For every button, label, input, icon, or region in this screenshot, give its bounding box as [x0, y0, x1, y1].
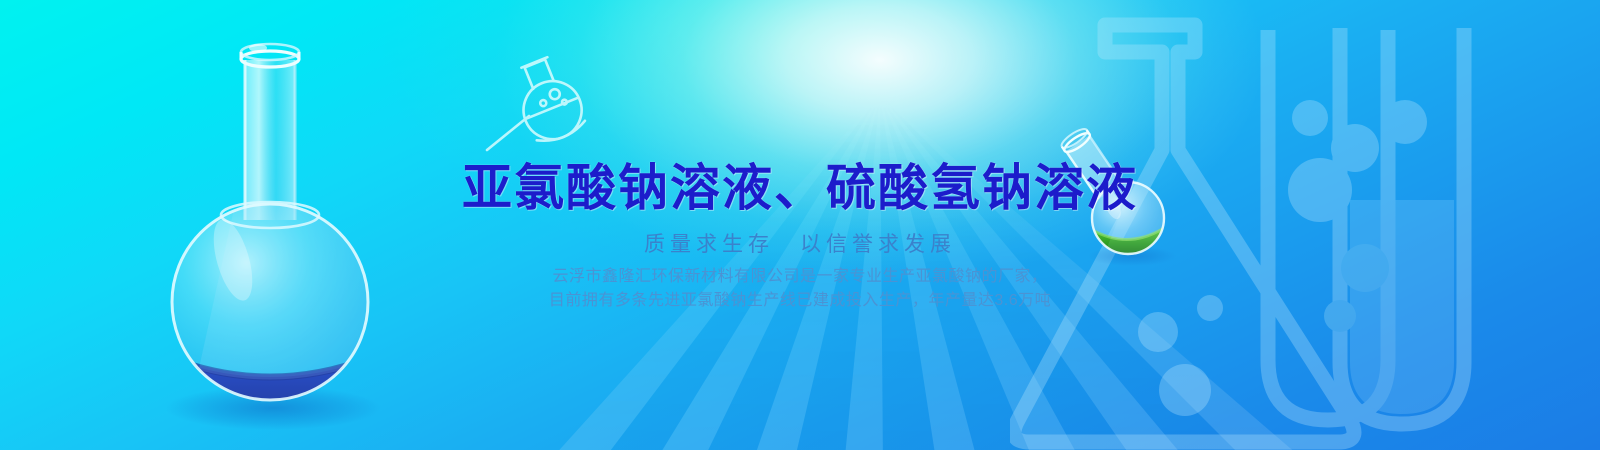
round-bottom-flask-photo: [155, 32, 385, 432]
tilted-flask-green-liquid: [1048, 108, 1183, 268]
hero-banner: 亚氯酸钠溶液、硫酸氢钠溶液 质量求生存 以信誉求发展 云浮市鑫隆汇环保新材料有限…: [0, 0, 1600, 450]
chemistry-watermark-group: [1010, 0, 1600, 450]
test-tube-watermark-right: [1288, 28, 1464, 424]
banner-body-line-1: 云浮市鑫隆汇环保新材料有限公司是一家专业生产亚氯酸钠的厂家，: [0, 262, 1600, 286]
radial-sunburst-rays: [0, 0, 1600, 450]
banner-body-line-2: 目前拥有多条先进亚氯酸钠生产线已建成投入生产，年产量达3.6万吨: [0, 286, 1600, 310]
banner-title: 亚氯酸钠溶液、硫酸氢钠溶液: [0, 148, 1600, 220]
erlenmeyer-flask-watermark: [1014, 25, 1354, 442]
flask-outline-icon: [485, 52, 610, 157]
banner-text-block: 亚氯酸钠溶液、硫酸氢钠溶液 质量求生存 以信誉求发展 云浮市鑫隆汇环保新材料有限…: [0, 0, 1600, 450]
test-tube-watermark-left: [1268, 30, 1388, 420]
banner-slogan: 质量求生存 以信誉求发展: [0, 228, 1600, 258]
